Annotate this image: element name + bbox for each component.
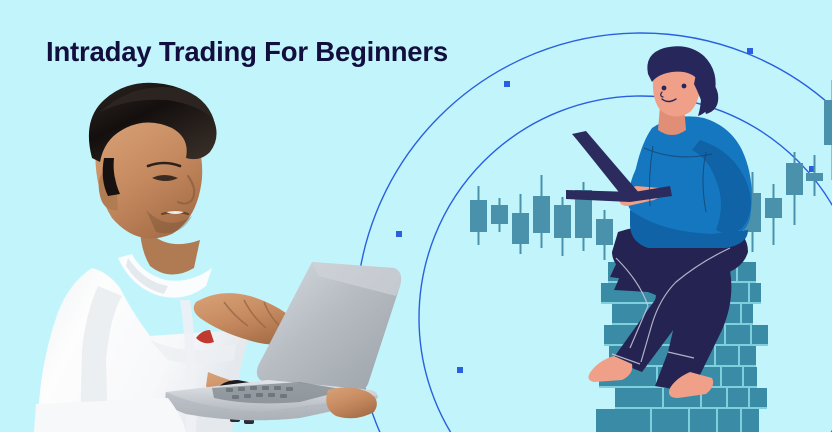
banner-root: Intraday Trading For Beginners xyxy=(0,0,832,432)
page-title: Intraday Trading For Beginners xyxy=(46,36,448,68)
man-shirt-front-lower xyxy=(34,398,186,432)
